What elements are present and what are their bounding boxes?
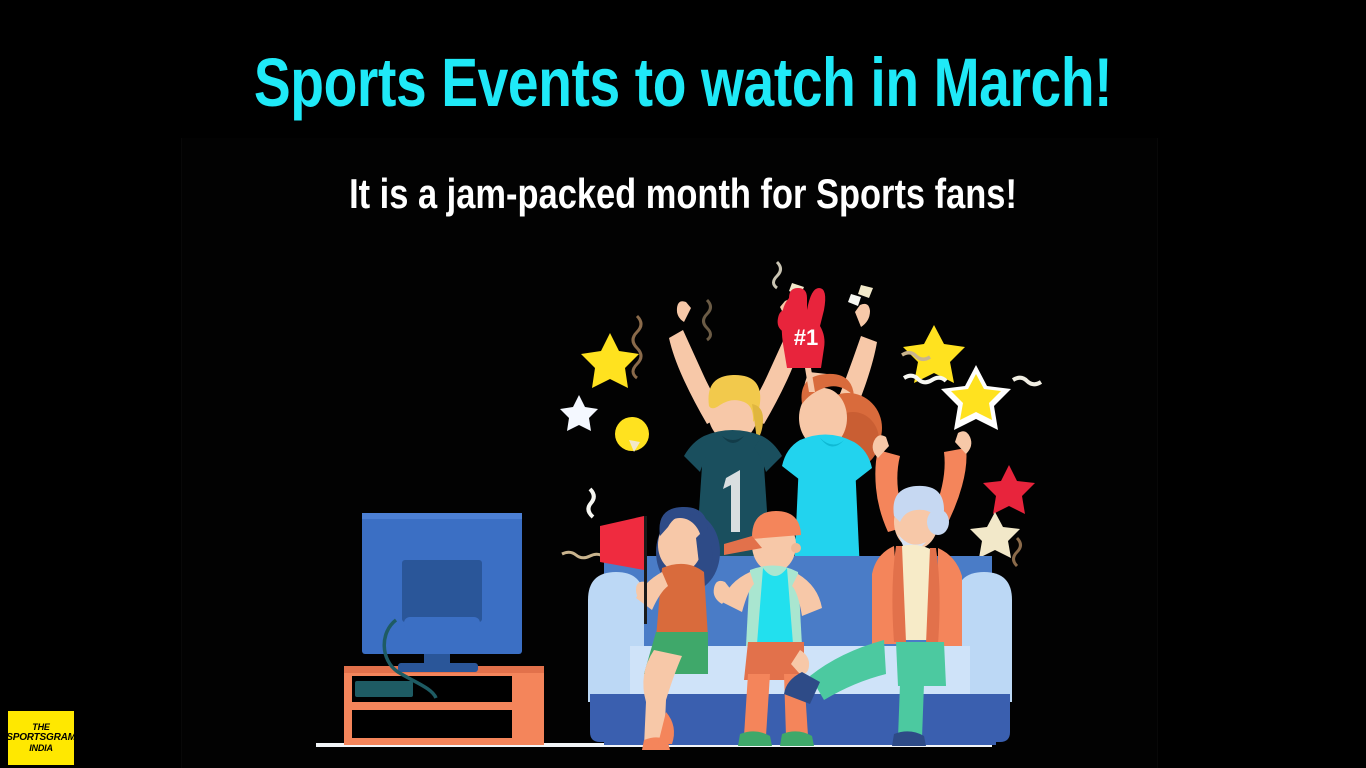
streamer-left-1	[633, 316, 641, 378]
streamer-left-4	[562, 552, 604, 558]
foam-finger-label: #1	[794, 325, 818, 350]
slide-canvas: #1	[0, 0, 1366, 768]
confetti-bit-right-1	[858, 285, 873, 298]
star-white-left	[560, 395, 598, 431]
streamer-left-3	[588, 489, 593, 517]
star-red-right	[983, 465, 1035, 514]
logo-line-3: INDIA	[29, 743, 53, 754]
star-yellow-left	[581, 333, 639, 388]
logo-line-2: SPORTSGRAM	[6, 733, 76, 744]
streamer-right-4	[1014, 538, 1021, 566]
streamer-left-5	[774, 262, 781, 288]
television-and-stand	[344, 513, 544, 745]
page-subtitle: It is a jam-packed month for Sports fans…	[123, 172, 1243, 216]
streamer-right-1	[1013, 378, 1041, 385]
page-title: Sports Events to watch in March!	[137, 48, 1230, 118]
star-cream-right	[970, 512, 1020, 558]
streamer-left-2	[704, 300, 711, 340]
confetti-bit-right-2	[848, 294, 861, 306]
logo-the-sportsgram-india: THE SPORTSGRAM INDIA	[8, 711, 74, 765]
